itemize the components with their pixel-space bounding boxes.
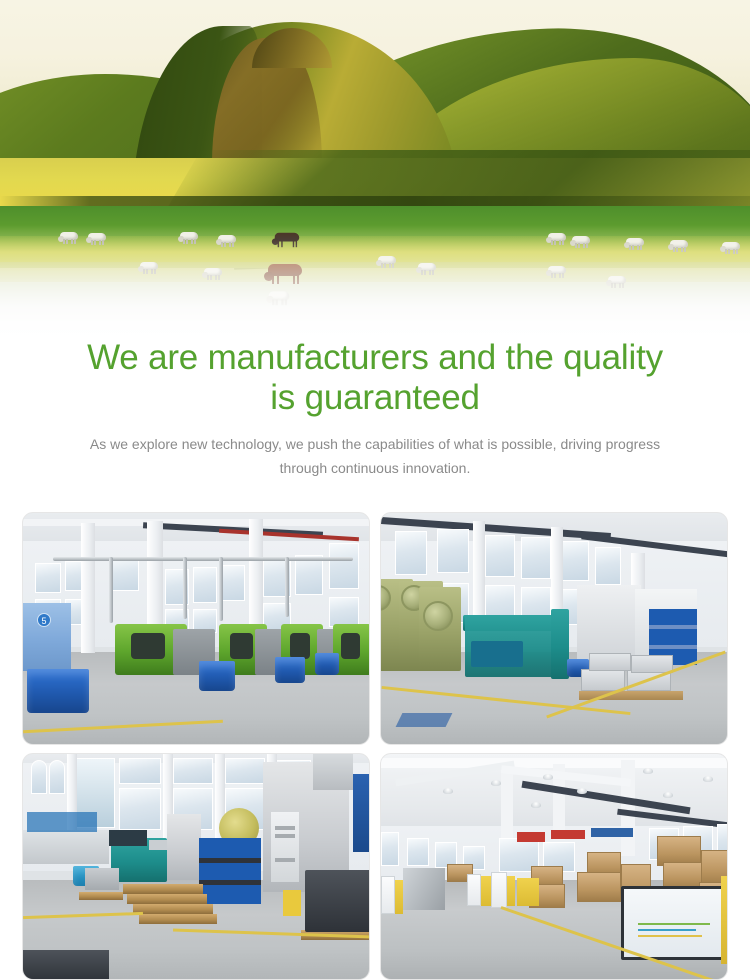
roof-column xyxy=(501,764,513,848)
arched-window xyxy=(49,760,65,794)
red-banner xyxy=(551,830,585,839)
rack-shelf xyxy=(199,858,261,863)
parts-crate xyxy=(631,655,673,673)
stamped-parts-stack xyxy=(305,870,369,932)
photo-press-shop-scene xyxy=(381,513,727,744)
red-banner xyxy=(517,832,545,842)
pallet xyxy=(139,914,217,924)
photo-warehouse-aisle-scene xyxy=(381,754,727,979)
riser-pipe xyxy=(183,557,187,619)
blue-bin xyxy=(275,657,305,683)
control-cabinet xyxy=(271,812,299,882)
pillar xyxy=(81,523,95,653)
parts-crate xyxy=(581,669,625,691)
parts-crate xyxy=(589,653,631,671)
blue-banner xyxy=(591,828,633,837)
pallet xyxy=(133,904,213,914)
pallet xyxy=(79,892,123,900)
white-panel xyxy=(381,876,395,914)
window xyxy=(35,563,61,593)
photo-press-shop[interactable] xyxy=(380,512,728,745)
photo-stamping-workshop-scene xyxy=(23,754,369,979)
roof-column xyxy=(621,760,635,856)
window xyxy=(329,597,359,627)
yellow-workstation xyxy=(517,878,539,906)
vent-slot xyxy=(275,826,295,830)
window xyxy=(221,565,245,601)
pallet xyxy=(127,894,207,904)
window xyxy=(111,557,139,591)
warning-sign xyxy=(283,890,301,916)
blue-machine xyxy=(353,774,369,852)
photo-injection-molding-scene: 5 xyxy=(23,513,369,744)
parts-stack xyxy=(85,868,119,890)
blue-bin xyxy=(27,669,89,713)
rack-shelf xyxy=(199,880,261,885)
metal-trolley xyxy=(403,868,445,910)
window xyxy=(407,838,429,866)
window xyxy=(485,535,515,577)
headline-line-2: is guaranteed xyxy=(0,378,750,418)
window xyxy=(561,541,589,581)
window xyxy=(295,555,323,595)
ceiling-lamp xyxy=(543,774,553,780)
white-panel xyxy=(491,872,507,908)
overhead-pipe xyxy=(53,557,353,561)
arched-window xyxy=(31,760,47,794)
photo-stamping-workshop[interactable] xyxy=(22,753,370,980)
workbench xyxy=(23,830,109,864)
punch-press xyxy=(419,587,461,671)
white-panel xyxy=(467,874,481,906)
window xyxy=(329,543,359,589)
ceiling-lamp xyxy=(577,788,587,794)
yellow-bollard xyxy=(721,876,727,964)
blue-bin xyxy=(199,661,235,691)
ceiling-lamp xyxy=(491,780,501,786)
window xyxy=(381,832,399,866)
window xyxy=(173,758,213,784)
window xyxy=(595,547,621,585)
window xyxy=(119,788,161,830)
window xyxy=(119,758,161,784)
window xyxy=(437,529,469,573)
vent-slot xyxy=(275,834,295,838)
hero-banner xyxy=(0,0,750,345)
window xyxy=(521,537,551,579)
ceiling-lamp xyxy=(531,802,541,808)
rack-shelf xyxy=(649,625,697,629)
stamped-parts-foreground xyxy=(23,950,109,979)
carton-stack xyxy=(577,872,621,902)
blue-bin xyxy=(315,653,339,675)
vent-slot xyxy=(275,858,295,862)
factory-photo-gallery: 5 xyxy=(22,512,728,980)
riser-pipe xyxy=(109,557,113,623)
window xyxy=(193,567,217,603)
whiteboard-sign xyxy=(621,886,727,960)
photo-warehouse-aisle[interactable] xyxy=(380,753,728,980)
headline-line-1: We are manufacturers and the quality xyxy=(87,338,663,377)
press-head xyxy=(313,754,353,790)
ceiling-lamp xyxy=(443,788,453,794)
ceiling-lamp xyxy=(703,776,713,782)
window xyxy=(225,758,265,784)
cabinet-number-badge: 5 xyxy=(37,613,51,627)
page-title: We are manufacturers and the quality is … xyxy=(0,338,750,418)
cnc-enclosure xyxy=(577,585,641,663)
floor-sign xyxy=(396,713,453,727)
page-subtitle: As we explore new technology, we push th… xyxy=(85,432,665,480)
control-panel xyxy=(471,641,523,667)
photo-injection-molding[interactable]: 5 xyxy=(22,512,370,745)
grassland-photo xyxy=(0,0,750,345)
riser-pipe xyxy=(285,557,289,617)
stamping-unit xyxy=(167,814,201,880)
ceiling-lamp xyxy=(663,792,673,798)
riser-pipe xyxy=(219,557,223,621)
banner-bottom-fade xyxy=(0,225,750,345)
window xyxy=(395,531,427,575)
ceiling-lamp xyxy=(643,768,653,774)
pallet xyxy=(123,884,203,894)
blue-equipment xyxy=(27,812,97,832)
rack-shelf xyxy=(649,645,697,649)
storage-rack xyxy=(199,838,261,904)
